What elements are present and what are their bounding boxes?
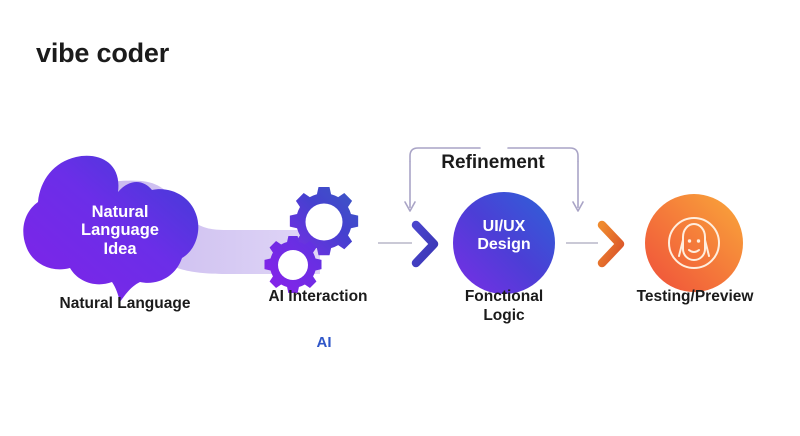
slide-canvas: vibe coder <box>0 0 800 436</box>
connector-chevron-2 <box>566 225 620 263</box>
process-flow-diagram: Refinement Natural Language Idea AI UI/U… <box>0 130 800 360</box>
node-testing-preview-shape[interactable] <box>645 194 743 292</box>
gear-small-icon <box>265 236 322 293</box>
node-fonctional-logic-shape[interactable] <box>453 192 555 294</box>
page-title: vibe coder <box>36 38 169 69</box>
diagram-graphics <box>0 130 800 360</box>
connector-chevron-1 <box>378 225 434 263</box>
node-natural-language-shape[interactable] <box>23 156 198 302</box>
